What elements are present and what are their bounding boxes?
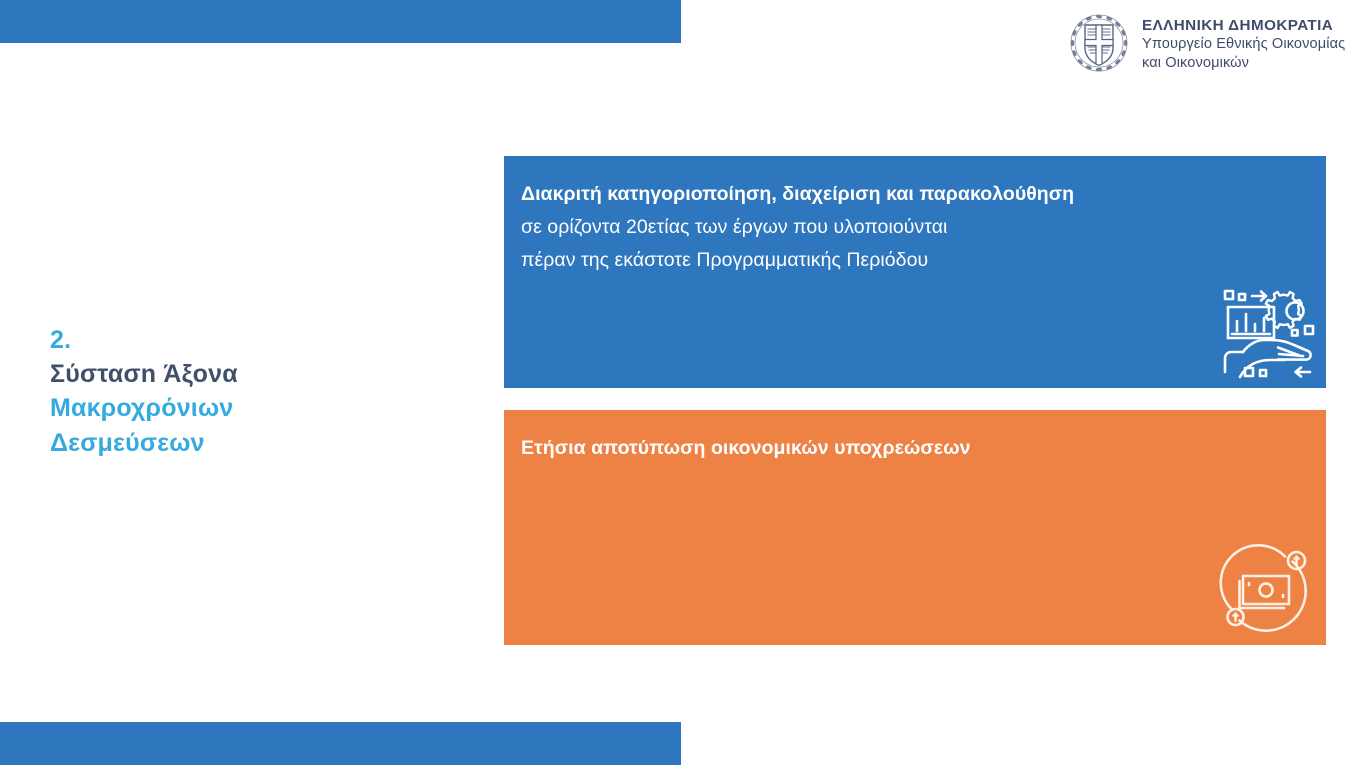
logo-line-ministry-1: Υπουργείο Εθνικής Οικονομίας xyxy=(1142,35,1345,54)
blue-content-panel: Διακριτή κατηγοριοποίηση, διαχείριση και… xyxy=(504,156,1326,388)
ministry-logo: ΕΛΛΗΝΙΚΗ ΔΗΜΟΚΡΑΤΙΑ Υπουργείο Εθνικής Οι… xyxy=(1068,12,1345,74)
orange-content-panel: Ετήσια αποτύπωση οικονομικών υποχρεώσεων xyxy=(504,410,1326,645)
orange-panel-line-1: Ετήσια αποτύπωση οικονομικών υποχρεώσεων xyxy=(521,432,1226,465)
section-title-line-2: Μακροχρόνιων xyxy=(50,391,380,426)
page-title: 2. Σύστασn Άξονα Μακροχρόνιων Δεσμεύσεων xyxy=(50,325,380,460)
section-title-line-3: Δεσμεύσεων xyxy=(50,426,380,461)
section-title-line-1: Σύστασn Άξονα xyxy=(50,357,380,392)
blue-panel-line-1: Διακριτή κατηγοριοποίηση, διαχείριση και… xyxy=(521,178,1226,211)
ministry-logo-text: ΕΛΛΗΝΙΚΗ ΔΗΜΟΚΡΑΤΙΑ Υπουργείο Εθνικής Οι… xyxy=(1142,14,1345,73)
hand-holding-bar-chart-gear-icon xyxy=(1216,280,1320,384)
top-blue-bar xyxy=(0,0,681,43)
bottom-blue-bar xyxy=(0,722,681,765)
slide-canvas: ΕΛΛΗΝΙΚΗ ΔΗΜΟΚΡΑΤΙΑ Υπουργείο Εθνικής Οι… xyxy=(0,0,1360,765)
logo-line-ministry-2: και Οικονομικών xyxy=(1142,54,1345,73)
money-circulation-banknote-icon xyxy=(1218,543,1314,639)
blue-panel-line-3: πέραν της εκάστοτε Προγραμματικής Περιόδ… xyxy=(521,244,1226,277)
blue-panel-text: Διακριτή κατηγοριοποίηση, διαχείριση και… xyxy=(521,178,1226,277)
orange-panel-text: Ετήσια αποτύπωση οικονομικών υποχρεώσεων xyxy=(521,432,1226,465)
section-number: 2. xyxy=(50,325,380,357)
greek-coat-of-arms-emblem xyxy=(1068,12,1130,74)
logo-line-republic: ΕΛΛΗΝΙΚΗ ΔΗΜΟΚΡΑΤΙΑ xyxy=(1142,16,1345,35)
blue-panel-line-2: σε ορίζοντα 20ετίας των έργων που υλοποι… xyxy=(521,211,1226,244)
